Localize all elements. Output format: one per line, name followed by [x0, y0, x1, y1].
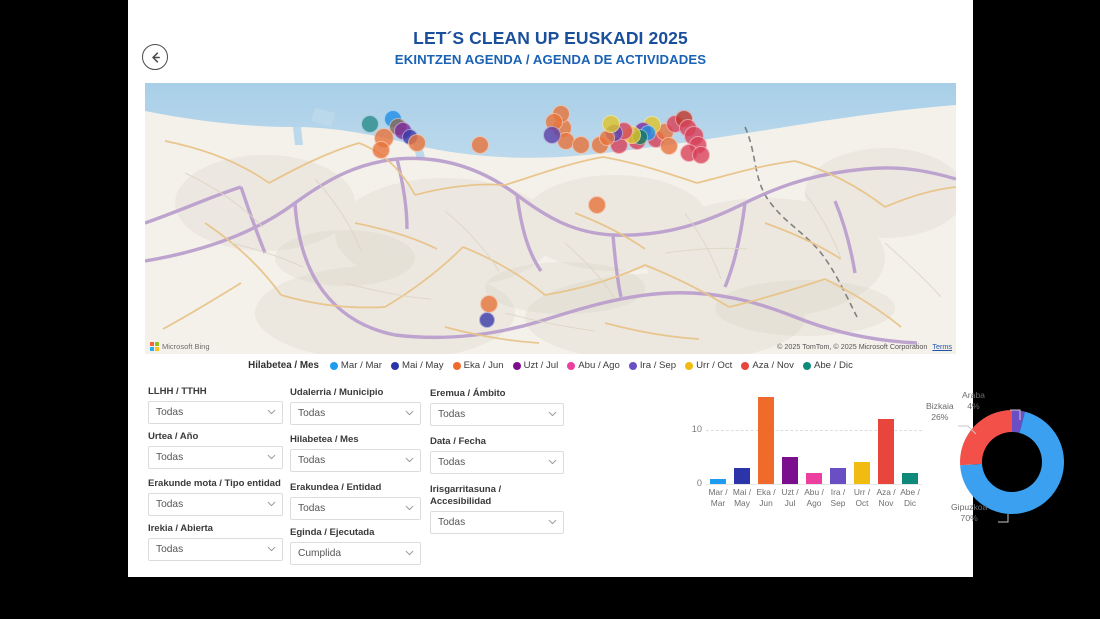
donut-label-bizkaia-value: 26%: [931, 412, 948, 422]
legend-item[interactable]: Ira / Sep: [629, 360, 676, 371]
filter-dropdown-value: Todas: [298, 455, 325, 466]
donut-label-gipuzkoa-value: 70%: [961, 513, 978, 523]
filter-group: Erakunde mota / Tipo entidadTodas: [148, 478, 283, 516]
months-bar-chart[interactable]: 10 0 Mar / MarMai / MayEka / JunUzt / Ju…: [676, 386, 924, 531]
bar-x-label: Aza / Nov: [874, 487, 898, 509]
screenshot-root: LET´S CLEAN UP EUSKADI 2025 EKINTZEN AGE…: [0, 0, 1100, 619]
map-pin[interactable]: [602, 115, 620, 133]
province-donut-chart[interactable]: Araba 4% Bizkaia 26% Gipuzkoa 70%: [924, 386, 1094, 531]
bar-x-label: Urr / Oct: [850, 487, 874, 509]
filter-dropdown-value: Todas: [156, 407, 183, 418]
filter-dropdown[interactable]: Todas: [148, 446, 283, 469]
filter-dropdown[interactable]: Todas: [148, 538, 283, 561]
bar-x-label: Abe / Dic: [898, 487, 922, 509]
donut-label-bizkaia-name: Bizkaia: [926, 401, 954, 411]
chevron-down-icon: [548, 409, 557, 418]
bar-chart-bars: [706, 392, 922, 484]
filter-column-3: Eremua / ÁmbitoTodasData / FechaTodasIri…: [430, 386, 564, 541]
filter-label: Hilabetea / Mes: [290, 434, 421, 446]
map-pin[interactable]: [588, 196, 606, 214]
map-pin[interactable]: [572, 136, 590, 154]
filter-column-2: Udalerria / MunicipioTodasHilabetea / Me…: [290, 386, 421, 572]
filter-dropdown-value: Todas: [438, 517, 465, 528]
legend-item-label: Uzt / Jul: [524, 360, 559, 371]
page-title: LET´S CLEAN UP EUSKADI 2025 EKINTZEN AGE…: [128, 28, 973, 69]
map-pin[interactable]: [471, 136, 489, 154]
bar[interactable]: [758, 397, 774, 484]
legend-color-dot: [330, 362, 338, 370]
filter-dropdown[interactable]: Todas: [430, 511, 564, 534]
filter-label: Eremua / Ámbito: [430, 388, 564, 400]
filter-dropdown-value: Todas: [298, 503, 325, 514]
legend-item-label: Aza / Nov: [752, 360, 794, 371]
filter-label: Irekia / Abierta: [148, 523, 283, 535]
legend-color-dot: [741, 362, 749, 370]
filter-dropdown[interactable]: Todas: [290, 402, 421, 425]
filter-dropdown[interactable]: Todas: [148, 401, 283, 424]
bar-slot: [754, 392, 778, 484]
legend-title: Hilabetea / Mes: [248, 360, 319, 371]
map-pin[interactable]: [480, 295, 498, 313]
filter-label: Urtea / Año: [148, 431, 283, 443]
map-attribution: © 2025 TomTom, © 2025 Microsoft Corporat…: [777, 342, 952, 351]
chevron-down-icon: [405, 408, 414, 417]
bar-slot: [778, 392, 802, 484]
legend-item-label: Mar / Mar: [341, 360, 382, 371]
legend-item[interactable]: Abu / Ago: [567, 360, 620, 371]
chevron-down-icon: [267, 544, 276, 553]
filter-group: Irekia / AbiertaTodas: [148, 523, 283, 561]
legend-item[interactable]: Urr / Oct: [685, 360, 732, 371]
filter-label: Erakunde mota / Tipo entidad: [148, 478, 283, 490]
title-main: LET´S CLEAN UP EUSKADI 2025: [128, 28, 973, 49]
map-pin[interactable]: [372, 141, 390, 159]
bar-x-label: Mar / Mar: [706, 487, 730, 509]
donut-label-araba-value: 4%: [967, 401, 979, 411]
legend-item[interactable]: Uzt / Jul: [513, 360, 559, 371]
filter-label: Udalerria / Municipio: [290, 387, 421, 399]
map-pin[interactable]: [543, 126, 561, 144]
filter-dropdown-value: Todas: [156, 499, 183, 510]
filter-group: Erakundea / EntidadTodas: [290, 482, 421, 520]
report-page: LET´S CLEAN UP EUSKADI 2025 EKINTZEN AGE…: [128, 0, 973, 577]
map-pin[interactable]: [479, 312, 495, 328]
donut-slice[interactable]: [960, 410, 1012, 465]
filter-group: LLHH / TTHHTodas: [148, 386, 283, 424]
bar-x-label: Mai / May: [730, 487, 754, 509]
microsoft-logo-icon: [150, 342, 159, 351]
legend-color-dot: [453, 362, 461, 370]
bar-x-label: Eka / Jun: [754, 487, 778, 509]
legend-color-dot: [629, 362, 637, 370]
legend-item[interactable]: Mar / Mar: [330, 360, 382, 371]
bar[interactable]: [830, 468, 846, 484]
bar-x-label: Abu / Ago: [802, 487, 826, 509]
chevron-down-icon: [405, 455, 414, 464]
donut-label-gipuzkoa-name: Gipuzkoa: [951, 502, 987, 512]
filter-dropdown-value: Todas: [156, 452, 183, 463]
map-pin[interactable]: [408, 134, 426, 152]
month-legend: Hilabetea / Mes Mar / MarMai / MayEka / …: [128, 360, 973, 371]
bar-slot: [826, 392, 850, 484]
bar-chart-xlabels: Mar / MarMai / MayEka / JunUzt / JulAbu …: [706, 487, 922, 509]
filter-label: Irisgarritasuna / Accesibilidad: [430, 484, 564, 508]
bar[interactable]: [902, 473, 918, 484]
filter-dropdown[interactable]: Todas: [290, 497, 421, 520]
bar-x-label: Uzt / Jul: [778, 487, 802, 509]
map-visual[interactable]: Microsoft Bing © 2025 TomTom, © 2025 Mic…: [145, 83, 956, 354]
filter-label: LLHH / TTHH: [148, 386, 283, 398]
bar-x-label: Ira / Sep: [826, 487, 850, 509]
bing-logo: Microsoft Bing: [150, 342, 210, 351]
title-subtitle: EKINTZEN AGENDA / AGENDA DE ACTIVIDADES: [128, 51, 973, 69]
legend-color-dot: [391, 362, 399, 370]
filter-dropdown[interactable]: Todas: [430, 451, 564, 474]
legend-items: Mar / MarMai / MayEka / JunUzt / JulAbu …: [330, 360, 853, 371]
chevron-down-icon: [267, 407, 276, 416]
filter-group: Data / FechaTodas: [430, 436, 564, 474]
bar-slot: [874, 392, 898, 484]
legend-color-dot: [685, 362, 693, 370]
chevron-down-icon: [548, 457, 557, 466]
bing-logo-label: Microsoft Bing: [162, 342, 210, 351]
filter-group: Udalerria / MunicipioTodas: [290, 387, 421, 425]
map-pin[interactable]: [692, 146, 710, 164]
bar[interactable]: [854, 462, 870, 484]
filter-dropdown-value: Todas: [156, 544, 183, 555]
filter-dropdown[interactable]: Todas: [290, 449, 421, 472]
filter-dropdown-value: Todas: [298, 408, 325, 419]
donut-leader-line: [998, 514, 1008, 522]
filter-dropdown-value: Todas: [438, 457, 465, 468]
bar-slot: [730, 392, 754, 484]
chevron-down-icon: [548, 517, 557, 526]
chevron-down-icon: [405, 548, 414, 557]
bar-chart-plot: [706, 392, 922, 484]
filter-label: Erakundea / Entidad: [290, 482, 421, 494]
legend-item-label: Abe / Dic: [814, 360, 853, 371]
bar[interactable]: [782, 457, 798, 484]
bar-chart-baseline: [706, 484, 922, 485]
donut-label-gipuzkoa: Gipuzkoa 70%: [951, 502, 987, 523]
legend-item-label: Abu / Ago: [578, 360, 620, 371]
legend-item[interactable]: Eka / Jun: [453, 360, 504, 371]
legend-item-label: Urr / Oct: [696, 360, 732, 371]
legend-color-dot: [513, 362, 521, 370]
legend-color-dot: [567, 362, 575, 370]
filter-dropdown[interactable]: Cumplida: [290, 542, 421, 565]
chevron-down-icon: [405, 503, 414, 512]
filter-dropdown-value: Cumplida: [298, 548, 341, 559]
filter-group: Urtea / AñoTodas: [148, 431, 283, 469]
bar[interactable]: [734, 468, 750, 484]
filter-group: Eginda / EjecutadaCumplida: [290, 527, 421, 565]
filter-dropdown[interactable]: Todas: [430, 403, 564, 426]
filter-dropdown[interactable]: Todas: [148, 493, 283, 516]
donut-label-bizkaia: Bizkaia 26%: [926, 401, 954, 422]
chevron-down-icon: [267, 499, 276, 508]
filter-label: Eginda / Ejecutada: [290, 527, 421, 539]
bar-slot: [802, 392, 826, 484]
filter-dropdown-value: Todas: [438, 409, 465, 420]
legend-item[interactable]: Mai / May: [391, 360, 444, 371]
legend-item-label: Eka / Jun: [464, 360, 504, 371]
bar-slot: [898, 392, 922, 484]
donut-label-araba-name: Araba: [962, 390, 985, 400]
map-pin[interactable]: [660, 137, 678, 155]
bar-chart-ytick-0: 0: [676, 478, 702, 488]
filter-group: Eremua / ÁmbitoTodas: [430, 388, 564, 426]
bar[interactable]: [878, 419, 894, 484]
legend-item-label: Mai / May: [402, 360, 444, 371]
filter-group: Irisgarritasuna / AccesibilidadTodas: [430, 484, 564, 534]
bar-chart-ytick-10: 10: [676, 424, 702, 434]
map-attribution-text: © 2025 TomTom, © 2025 Microsoft Corporat…: [777, 342, 927, 351]
bar-slot: [850, 392, 874, 484]
bar-slot: [706, 392, 730, 484]
filter-column-1: LLHH / TTHHTodasUrtea / AñoTodasErakunde…: [148, 386, 283, 568]
donut-label-araba: Araba 4%: [962, 390, 985, 411]
bar[interactable]: [806, 473, 822, 484]
legend-item[interactable]: Aza / Nov: [741, 360, 794, 371]
legend-color-dot: [803, 362, 811, 370]
legend-item-label: Ira / Sep: [640, 360, 676, 371]
chevron-down-icon: [267, 452, 276, 461]
legend-item[interactable]: Abe / Dic: [803, 360, 853, 371]
filter-group: Hilabetea / MesTodas: [290, 434, 421, 472]
map-terms-link[interactable]: Terms: [932, 342, 952, 351]
filter-label: Data / Fecha: [430, 436, 564, 448]
